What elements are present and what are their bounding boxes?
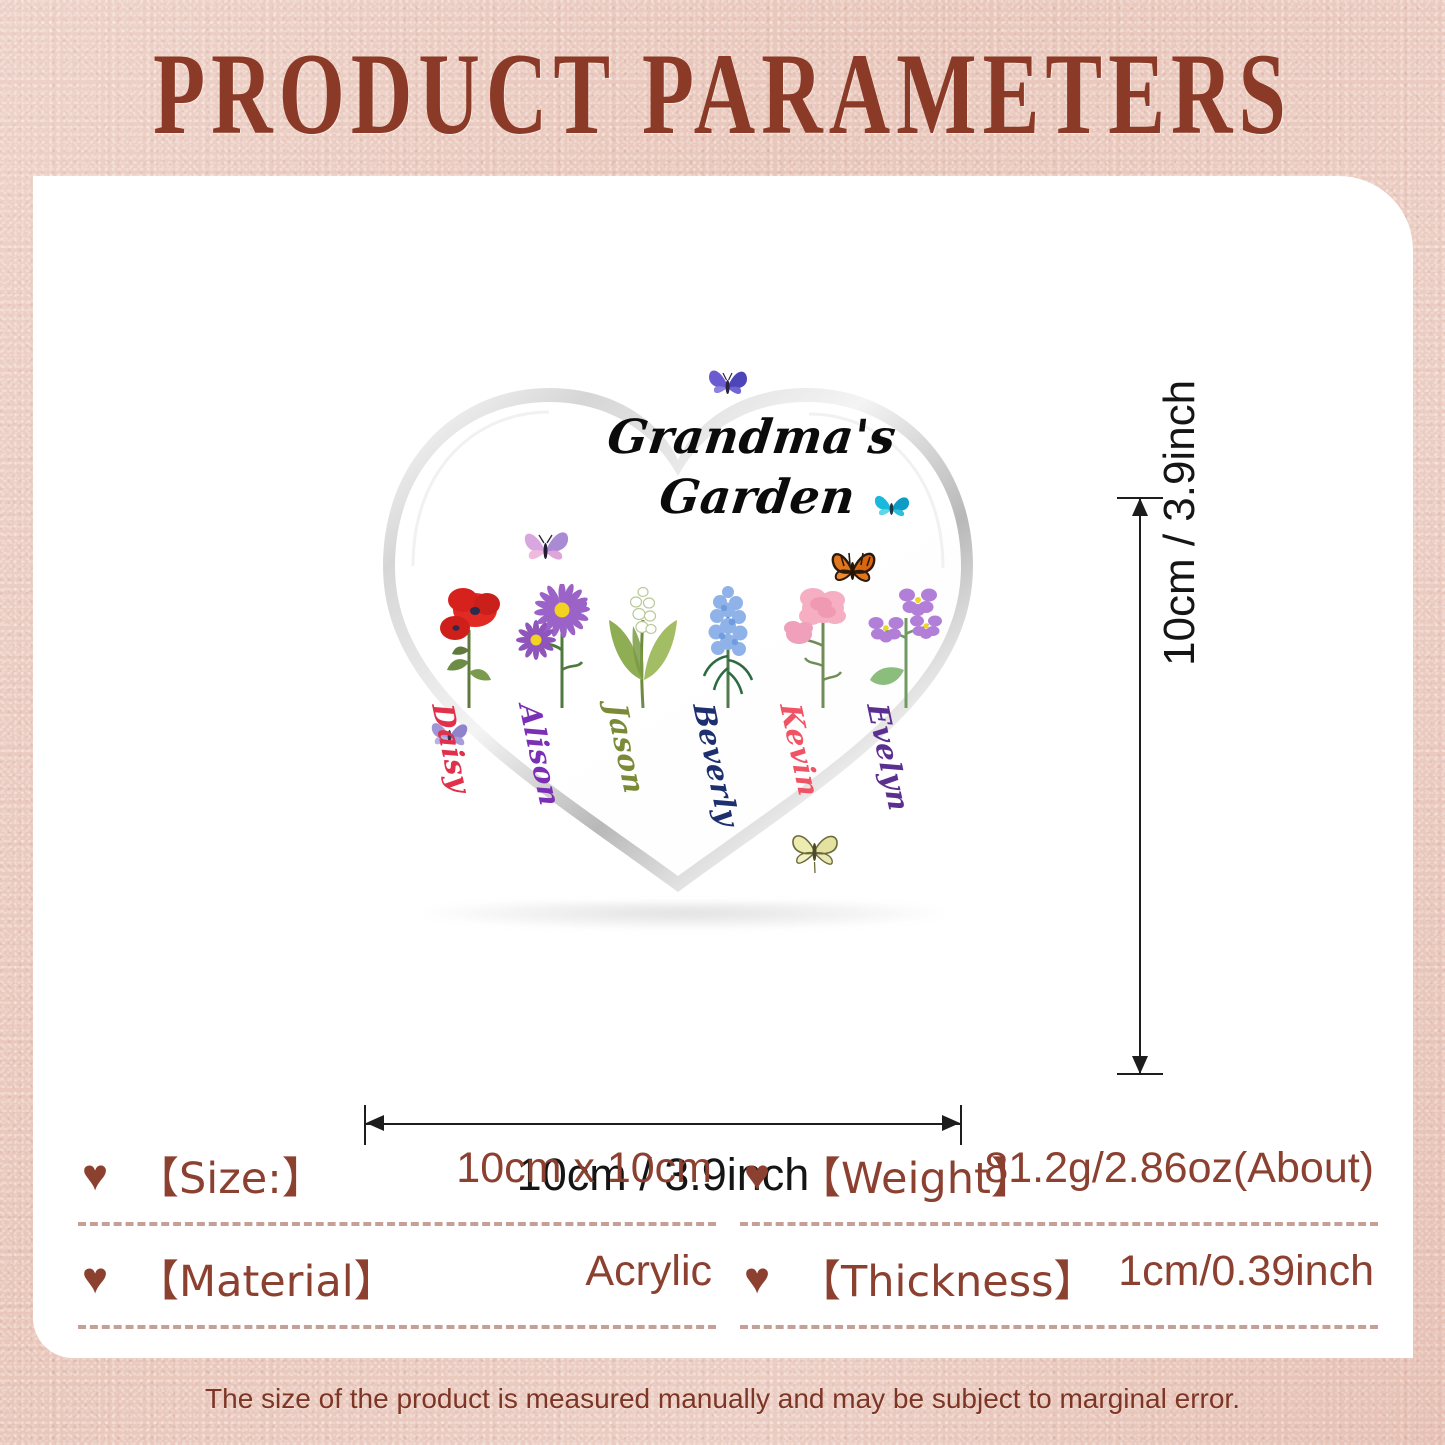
flower-name-4: Beverly [686, 702, 746, 828]
height-dimension: 10cm / 3.9inch [1103, 486, 1223, 1086]
flower-column-4: Beverly [686, 584, 772, 884]
height-line [1139, 498, 1141, 1074]
aster-icon [512, 584, 598, 712]
spec-value-weight: 81.2g/2.86oz(About) [984, 1144, 1374, 1193]
acrylic-heart-plaque: Grandma's Garden [373, 316, 983, 936]
flower-column-3: Jason [599, 584, 685, 884]
heart-icon: ♥ [744, 1257, 770, 1301]
content-card: Grandma's Garden [33, 176, 1413, 1358]
delphinium-icon [686, 584, 772, 712]
product-image: Grandma's Garden [333, 306, 1033, 1006]
height-arrow-bottom [1132, 1056, 1148, 1074]
spec-value-material: Acrylic [585, 1247, 712, 1296]
spec-label-thickness: 【Thickness】 [798, 1247, 1097, 1309]
flower-name-3: Jason [599, 702, 652, 795]
height-arrow-top [1132, 498, 1148, 516]
flower-name-5: Kevin [773, 702, 827, 798]
spec-divider [740, 1222, 1378, 1226]
height-label: 10cm / 3.9inch [1155, 380, 1205, 666]
engraved-title: Grandma's Garden [576, 408, 921, 528]
flower-row: Daisy [425, 584, 945, 884]
lily-of-the-valley-icon [599, 584, 685, 712]
flower-name-6: Evelyn [860, 702, 917, 813]
width-arrow-right [942, 1115, 960, 1131]
blue-violet-butterfly-icon [705, 362, 751, 402]
flower-name-2: Alison [512, 702, 568, 808]
spec-row-weight: ♥ 【Weight】 81.2g/2.86oz(About) [740, 1136, 1378, 1228]
engraved-title-line2: Garden [576, 468, 913, 528]
violet-icon [860, 584, 946, 712]
flower-column-2: Alison [512, 584, 598, 884]
spec-table: ♥ 【Size:】 10cm x 10cm ♥ 【Weight】 81.2g/2… [78, 1136, 1378, 1341]
flower-column-6: Evelyn [860, 584, 946, 884]
spec-label-material: 【Material】 [136, 1247, 397, 1309]
flower-column-5: Kevin [773, 584, 859, 884]
poppy-icon [425, 584, 511, 712]
heart-icon: ♥ [82, 1154, 108, 1198]
spec-row-size: ♥ 【Size:】 10cm x 10cm [78, 1136, 716, 1228]
cyan-butterfly-icon [871, 488, 913, 522]
engraved-artwork: Grandma's Garden [373, 316, 983, 916]
spec-row-material: ♥ 【Material】 Acrylic [78, 1239, 716, 1331]
spec-label-size: 【Size:】 [136, 1144, 325, 1206]
spec-value-thickness: 1cm/0.39inch [1118, 1247, 1374, 1296]
spec-row-thickness: ♥ 【Thickness】 1cm/0.39inch [740, 1239, 1378, 1331]
spec-divider [78, 1222, 716, 1226]
flower-column-1: Daisy [425, 584, 511, 884]
spec-divider [740, 1325, 1378, 1329]
spec-divider [78, 1325, 716, 1329]
carnation-icon [773, 584, 859, 712]
engraved-title-line1: Grandma's [583, 408, 920, 468]
width-arrow-left [366, 1115, 384, 1131]
heart-icon: ♥ [744, 1154, 770, 1198]
spec-value-size: 10cm x 10cm [456, 1144, 712, 1193]
page-title: PRODUCT PARAMETERS [101, 36, 1344, 153]
width-line [365, 1123, 961, 1125]
footer-note: The size of the product is measured manu… [0, 1383, 1445, 1415]
pink-purple-butterfly-icon [519, 524, 577, 572]
flower-name-1: Daisy [425, 702, 478, 794]
heart-icon: ♥ [82, 1257, 108, 1301]
